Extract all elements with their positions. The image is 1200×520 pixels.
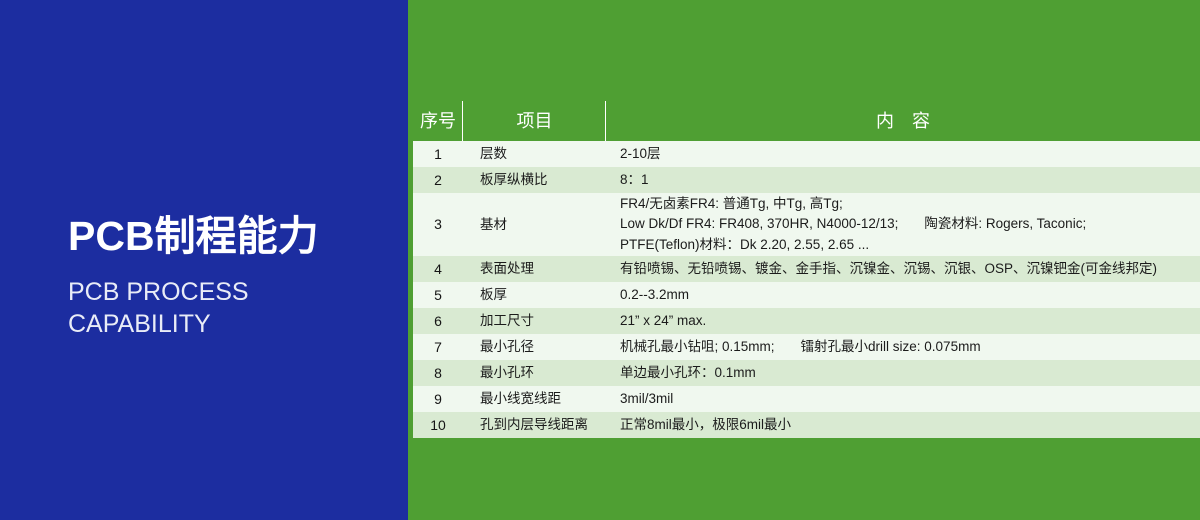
- table-header: 序号 项目 内容: [413, 101, 1200, 141]
- table-row: 7 最小孔径 机械孔最小钻咀; 0.15mm;镭射孔最小drill size: …: [413, 334, 1200, 360]
- cell-content: 机械孔最小钻咀; 0.15mm;镭射孔最小drill size: 0.075mm: [606, 334, 1200, 360]
- content-line: Low Dk/Df FR4: FR408, 370HR, N4000-12/13…: [620, 216, 898, 231]
- cell-content: FR4/无卤素FR4: 普通Tg, 中Tg, 高Tg; Low Dk/Df FR…: [606, 193, 1200, 256]
- table-row: 9 最小线宽线距 3mil/3mil: [413, 386, 1200, 412]
- cell-no: 4: [413, 256, 463, 282]
- cell-item: 板厚: [463, 282, 606, 308]
- cell-no: 9: [413, 386, 463, 412]
- cell-item: 基材: [463, 193, 606, 256]
- cell-content: 21” x 24” max.: [606, 308, 1200, 334]
- table-row: 6 加工尺寸 21” x 24” max.: [413, 308, 1200, 334]
- page-title-en: PCB PROCESS CAPABILITY: [68, 276, 398, 340]
- content-line: FR4/无卤素FR4: 普通Tg, 中Tg, 高Tg;: [620, 194, 1196, 215]
- cell-content: 3mil/3mil: [606, 386, 1200, 412]
- content-line: 2-10层: [620, 144, 1196, 165]
- slide-root: PCB制程能力 PCB PROCESS CAPABILITY 序号 项目: [0, 0, 1200, 520]
- cell-content: 8：1: [606, 167, 1200, 193]
- content-line: 单边最小孔环：0.1mm: [620, 363, 1196, 384]
- table-row: 4 表面处理 有铅喷锡、无铅喷锡、镀金、金手指、沉镍金、沉锡、沉银、OSP、沉镍…: [413, 256, 1200, 282]
- cell-no: 2: [413, 167, 463, 193]
- cell-item: 表面处理: [463, 256, 606, 282]
- table-row: 10 孔到内层导线距离 正常8mil最小，极限6mil最小: [413, 412, 1200, 438]
- content-line: 有铅喷锡、无铅喷锡、镀金、金手指、沉镍金、沉锡、沉银、OSP、沉镍钯金(可金线邦…: [620, 259, 1196, 280]
- content-line: 正常8mil最小，极限6mil最小: [620, 415, 1196, 436]
- column-header-item: 项目: [463, 101, 606, 141]
- content-line: 镭射孔最小drill size: 0.075mm: [801, 339, 981, 354]
- cell-content: 0.2--3.2mm: [606, 282, 1200, 308]
- cell-no: 5: [413, 282, 463, 308]
- table-row: 1 层数 2-10层: [413, 141, 1200, 167]
- cell-item: 最小孔径: [463, 334, 606, 360]
- pcb-capability-table: 序号 项目 内容 1 层数 2-10层: [413, 101, 1200, 438]
- left-blue-panel: PCB制程能力 PCB PROCESS CAPABILITY: [0, 0, 408, 520]
- cell-no: 1: [413, 141, 463, 167]
- content-line: 陶瓷材料: Rogers, Taconic;: [924, 216, 1086, 231]
- content-line: PTFE(Teflon)材料：Dk 2.20, 2.55, 2.65 ...: [620, 235, 1196, 256]
- cell-content: 正常8mil最小，极限6mil最小: [606, 412, 1200, 438]
- cell-no: 3: [413, 193, 463, 256]
- cell-no: 6: [413, 308, 463, 334]
- column-header-content: 内容: [606, 101, 1200, 141]
- table-row: 5 板厚 0.2--3.2mm: [413, 282, 1200, 308]
- page-title-cn: PCB制程能力: [68, 214, 398, 260]
- column-header-content-a: 内: [876, 111, 894, 131]
- content-line-group: Low Dk/Df FR4: FR408, 370HR, N4000-12/13…: [620, 214, 1196, 235]
- cell-content: 单边最小孔环：0.1mm: [606, 360, 1200, 386]
- column-header-content-b: 容: [912, 111, 930, 131]
- content-line: 8：1: [620, 170, 1196, 191]
- table-row: 8 最小孔环 单边最小孔环：0.1mm: [413, 360, 1200, 386]
- content-line: 3mil/3mil: [620, 389, 1196, 410]
- cell-no: 8: [413, 360, 463, 386]
- table-row: 2 板厚纵横比 8：1: [413, 167, 1200, 193]
- cell-item: 加工尺寸: [463, 308, 606, 334]
- cell-content: 有铅喷锡、无铅喷锡、镀金、金手指、沉镍金、沉锡、沉银、OSP、沉镍钯金(可金线邦…: [606, 256, 1200, 282]
- cell-item: 孔到内层导线距离: [463, 412, 606, 438]
- table-header-row: 序号 项目 内容: [413, 101, 1200, 141]
- content-line: 机械孔最小钻咀; 0.15mm;: [620, 339, 775, 354]
- content-line-group: 机械孔最小钻咀; 0.15mm;镭射孔最小drill size: 0.075mm: [620, 337, 1196, 358]
- page-title-en-line1: PCB PROCESS: [68, 276, 398, 308]
- content-line: 0.2--3.2mm: [620, 285, 1196, 306]
- table-body: 1 层数 2-10层 2 板厚纵横比 8：1 3 基: [413, 141, 1200, 438]
- cell-no: 10: [413, 412, 463, 438]
- cell-item: 最小线宽线距: [463, 386, 606, 412]
- column-header-no: 序号: [413, 101, 463, 141]
- content-line: 21” x 24” max.: [620, 311, 1196, 332]
- page-title-en-line2: CAPABILITY: [68, 308, 398, 340]
- cell-item: 层数: [463, 141, 606, 167]
- table-row: 3 基材 FR4/无卤素FR4: 普通Tg, 中Tg, 高Tg; Low Dk/…: [413, 193, 1200, 256]
- cell-no: 7: [413, 334, 463, 360]
- cell-item: 板厚纵横比: [463, 167, 606, 193]
- cell-item: 最小孔环: [463, 360, 606, 386]
- title-block: PCB制程能力 PCB PROCESS CAPABILITY: [68, 214, 398, 340]
- cell-content: 2-10层: [606, 141, 1200, 167]
